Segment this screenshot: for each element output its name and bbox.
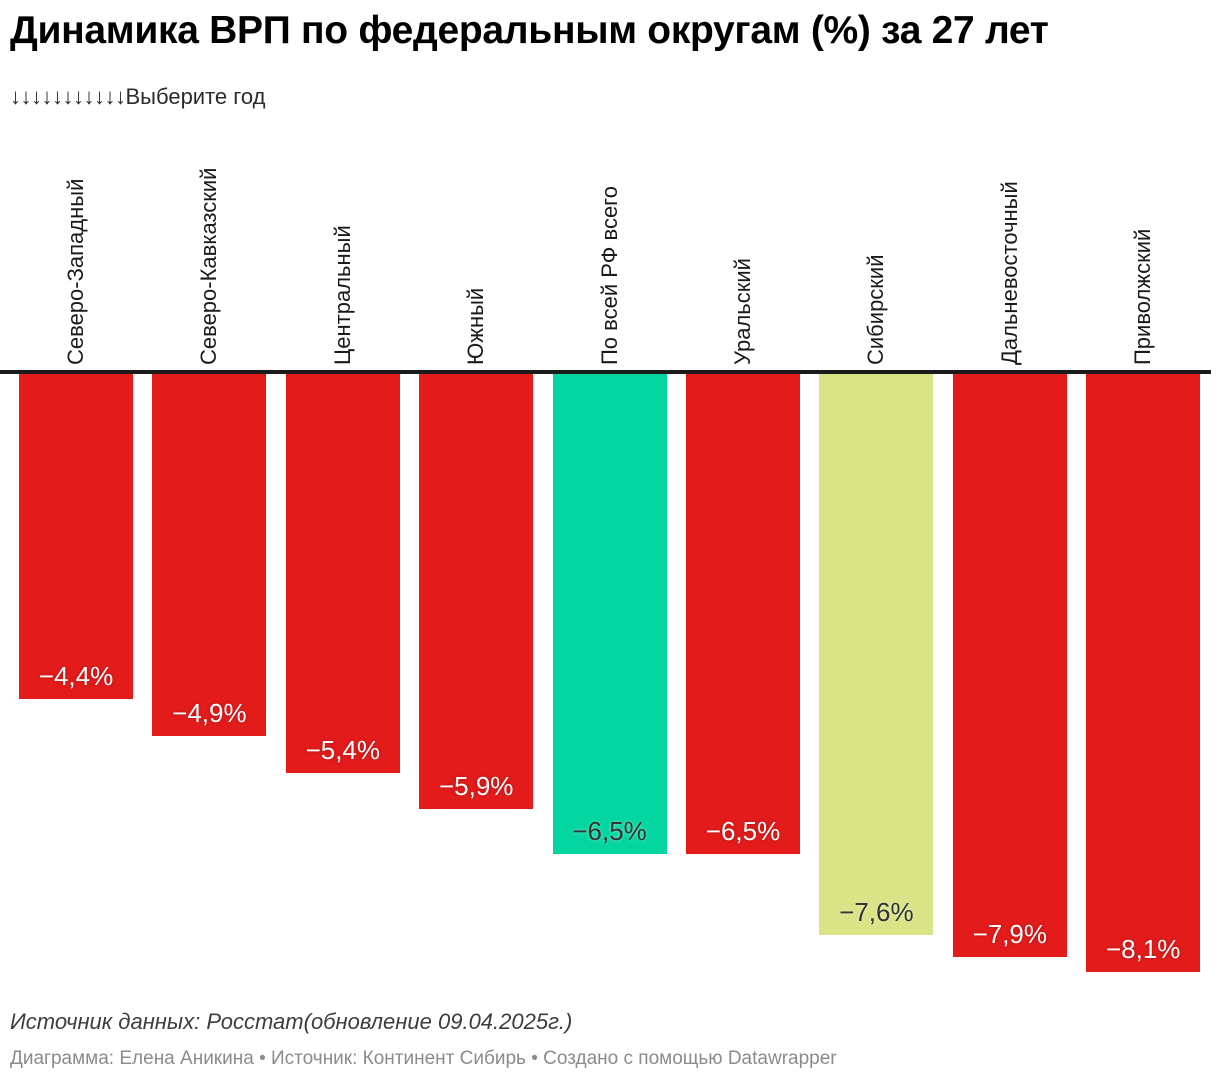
bar-group[interactable]: Южный−5,9% (419, 120, 533, 985)
chart-container: Динамика ВРП по федеральным округам (%) … (0, 0, 1220, 1092)
bar[interactable]: −5,4% (286, 374, 400, 773)
bar-group[interactable]: По всей РФ всего−6,5% (553, 120, 667, 985)
bar-value-label: −4,4% (19, 661, 133, 691)
bar-group[interactable]: Северо-Западный−4,4% (19, 120, 133, 985)
bar-value-label: −7,9% (953, 919, 1067, 949)
bar[interactable]: −5,9% (419, 374, 533, 809)
bar-value-label: −6,5% (686, 816, 800, 846)
bar-group[interactable]: Уральский−6,5% (686, 120, 800, 985)
bar[interactable]: −6,5% (553, 374, 667, 854)
plot-area: Северо-Западный−4,4%Северо-Кавказский−4,… (0, 120, 1220, 985)
bar-value-label: −6,5% (553, 816, 667, 846)
bar[interactable]: −4,9% (152, 374, 266, 736)
bar[interactable]: −4,4% (19, 374, 133, 699)
down-arrow-icon-row: ↓↓↓↓↓↓↓↓↓↓↓ (10, 84, 126, 109)
bar-group[interactable]: Дальневосточный−7,9% (953, 120, 1067, 985)
chart-subtitle: ↓↓↓↓↓↓↓↓↓↓↓Выберите год (10, 83, 1210, 111)
bar-value-label: −8,1% (1086, 934, 1200, 964)
bar-group[interactable]: Центральный−5,4% (286, 120, 400, 985)
source-note: Источник данных: Росстат(обновление 09.0… (10, 1008, 1210, 1036)
chart-title: Динамика ВРП по федеральным округам (%) … (10, 8, 1210, 54)
bar-group[interactable]: Северо-Кавказский−4,9% (152, 120, 266, 985)
chart-subtitle-label: Выберите год (126, 84, 266, 109)
chart-credit: Диаграмма: Елена Аникина • Источник: Кон… (10, 1047, 1210, 1071)
bar-value-label: −7,6% (819, 897, 933, 927)
bar-value-label: −4,9% (152, 698, 266, 728)
bar[interactable]: −8,1% (1086, 374, 1200, 972)
bar[interactable]: −7,9% (953, 374, 1067, 957)
bar-group[interactable]: Приволжский−8,1% (1086, 120, 1200, 985)
bar-value-label: −5,4% (286, 735, 400, 765)
bar-category-label: Приволжский (1132, 229, 1220, 365)
bar-value-label: −5,9% (419, 771, 533, 801)
bar-group[interactable]: Сибирский−7,6% (819, 120, 933, 985)
bar[interactable]: −6,5% (686, 374, 800, 854)
bar[interactable]: −7,6% (819, 374, 933, 935)
